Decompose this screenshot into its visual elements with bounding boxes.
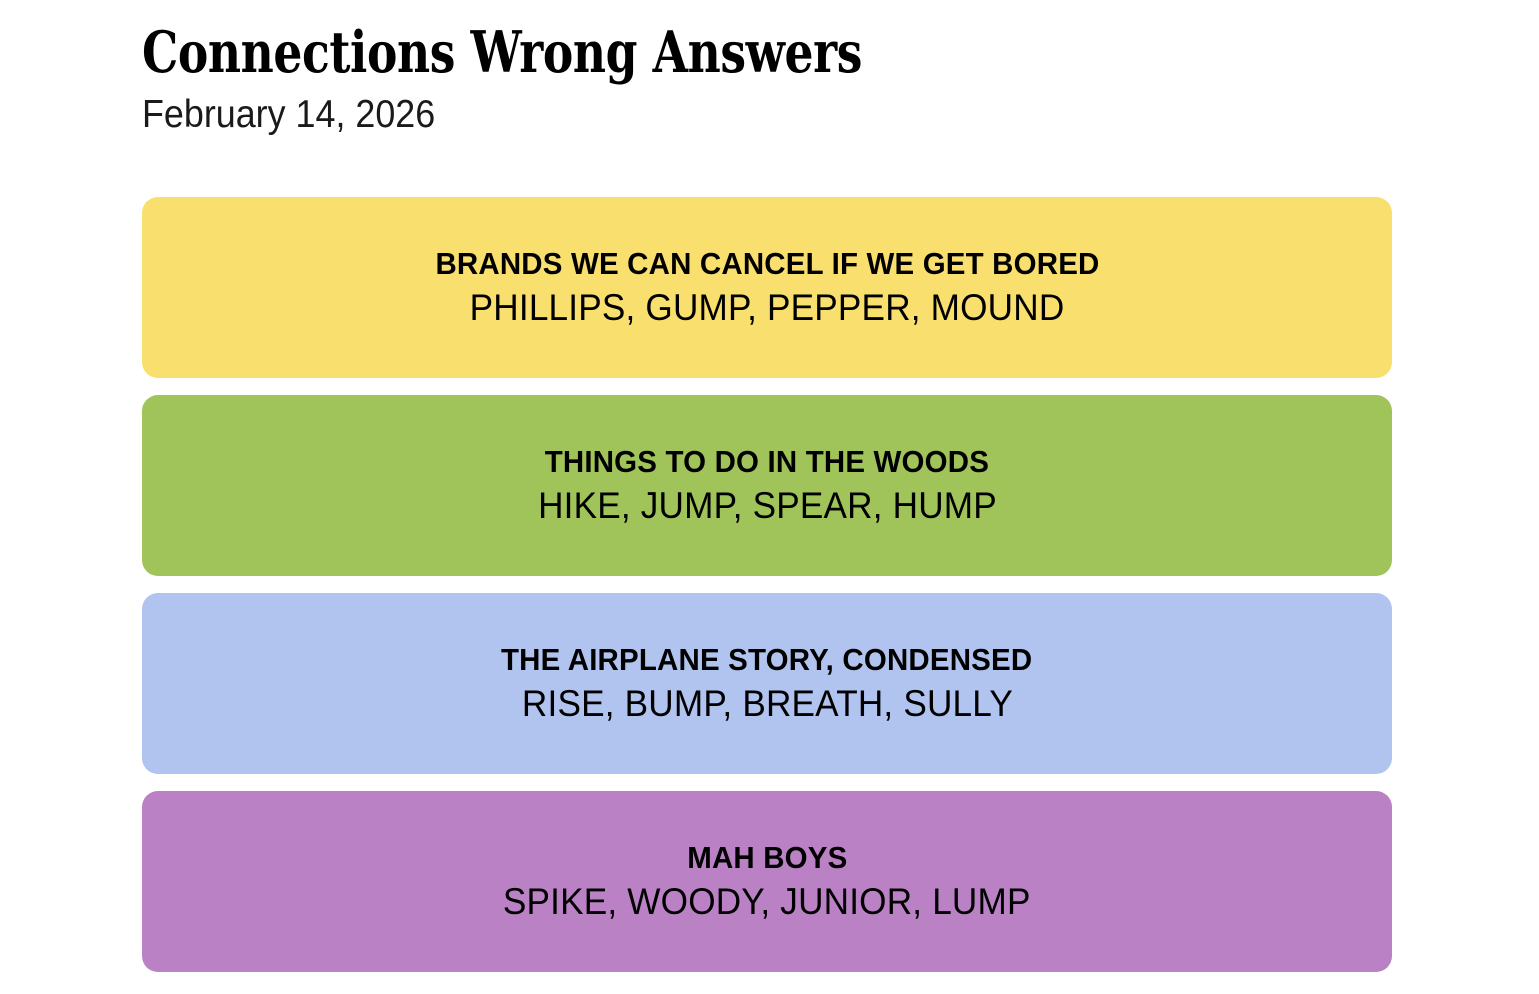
category-title: MAH BOYS [687, 839, 847, 877]
answer-category-card-yellow: BRANDS WE CAN CANCEL IF WE GET BORED PHI… [142, 197, 1392, 378]
page-title: Connections Wrong Answers [142, 22, 1142, 84]
answer-category-card-green: THINGS TO DO IN THE WOODS HIKE, JUMP, SP… [142, 395, 1392, 576]
category-title: THINGS TO DO IN THE WOODS [545, 443, 989, 481]
page-header: Connections Wrong Answers February 14, 2… [142, 22, 1392, 138]
page-root: Connections Wrong Answers February 14, 2… [0, 0, 1539, 994]
answer-category-card-blue: THE AIRPLANE STORY, CONDENSED RISE, BUMP… [142, 593, 1392, 774]
category-title: THE AIRPLANE STORY, CONDENSED [501, 641, 1032, 679]
category-items: HIKE, JUMP, SPEAR, HUMP [538, 483, 997, 529]
category-items: SPIKE, WOODY, JUNIOR, LUMP [503, 879, 1031, 925]
category-items: RISE, BUMP, BREATH, SULLY [521, 681, 1012, 727]
answer-category-list: BRANDS WE CAN CANCEL IF WE GET BORED PHI… [142, 197, 1392, 972]
category-title: BRANDS WE CAN CANCEL IF WE GET BORED [435, 245, 1099, 283]
category-items: PHILLIPS, GUMP, PEPPER, MOUND [470, 285, 1065, 331]
answer-category-card-purple: MAH BOYS SPIKE, WOODY, JUNIOR, LUMP [142, 791, 1392, 972]
page-date-subtitle: February 14, 2026 [142, 92, 1292, 138]
